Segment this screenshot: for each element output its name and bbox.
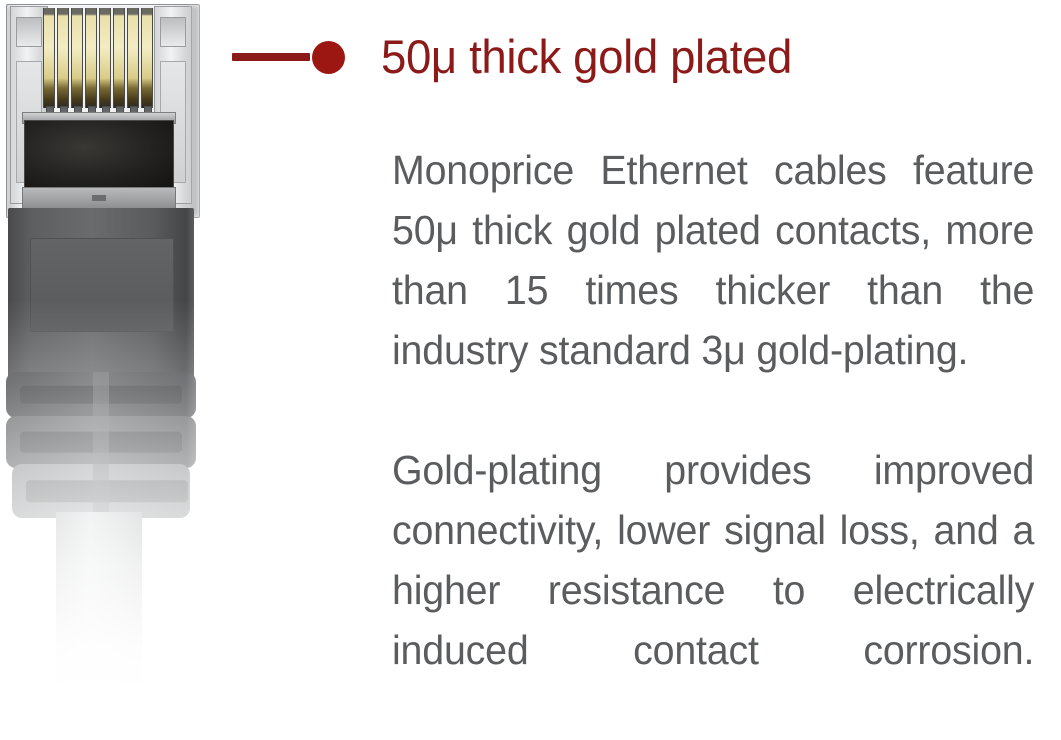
marketing-feature-panel: 50μ thick gold plated Monoprice Ethernet… [0,0,1061,691]
gold-pin-5 [99,8,111,108]
boot-rib-3 [12,464,190,518]
boot-rib-2 [6,416,196,468]
feature-text-column: 50μ thick gold plated Monoprice Ethernet… [232,0,1061,691]
feature-headline: 50μ thick gold plated [381,31,792,83]
gold-pin-7 [127,8,139,108]
gold-pin-1 [43,8,55,108]
connector-wire-cavity [24,120,174,188]
gold-pin-8 [141,8,153,108]
gold-pin-2 [57,8,69,108]
body-paragraph-1: Monoprice Ethernet cables feature 50μ th… [392,140,1034,380]
strain-relief-boot [8,208,194,380]
bullet-line-icon [232,53,310,61]
paragraph-spacer [392,380,1061,440]
boot-rib-1 [6,372,196,418]
gold-pin-3 [71,8,83,108]
gold-pin-6 [113,8,125,108]
gold-pin-4 [85,8,97,108]
rj45-connector-photo [0,0,230,691]
headline-row: 50μ thick gold plated [232,22,805,92]
boot-rib-spine [93,416,109,468]
cable-jacket [56,512,142,691]
bullet-dot-icon [312,41,345,74]
connector-footer-edge [22,187,176,209]
body-paragraph-2: Gold-plating provides improved connectiv… [392,440,1034,740]
boot-rib-spine [93,464,109,518]
feature-body-copy: Monoprice Ethernet cables feature 50μ th… [392,140,1061,740]
boot-rib-spine [93,372,109,418]
gold-contact-pins [43,8,153,108]
